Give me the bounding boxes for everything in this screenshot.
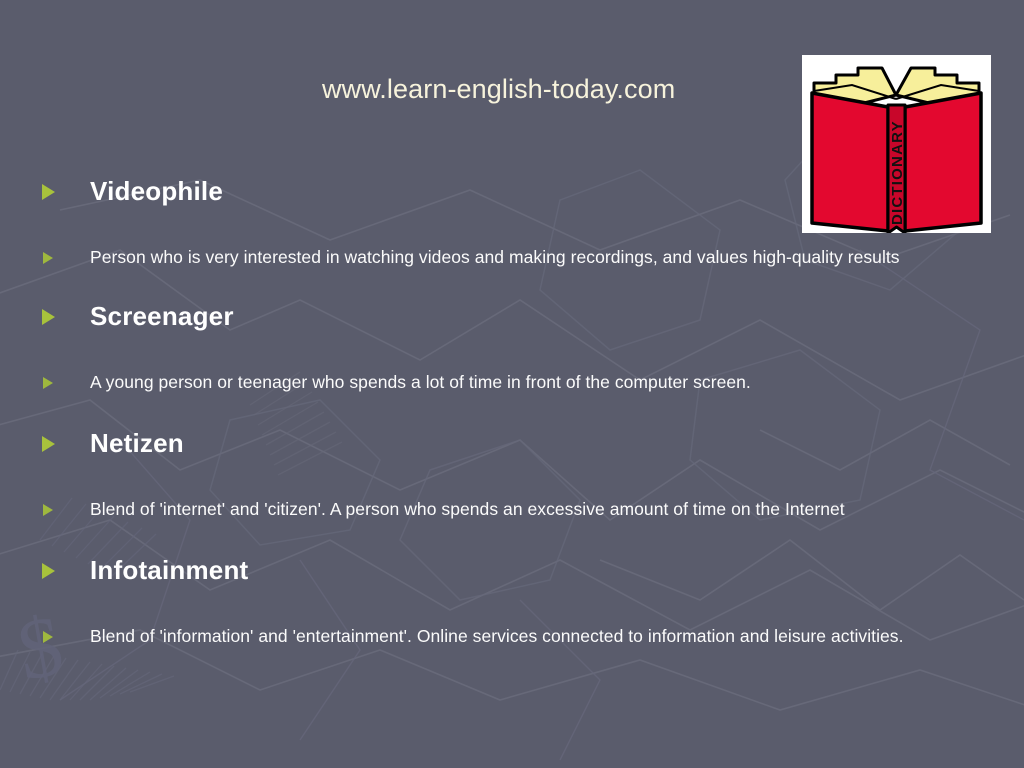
list-item: Netizen Blend of 'internet' and 'citizen…	[0, 428, 1024, 555]
entry-definition-row: Blend of 'information' and 'entertainmen…	[0, 625, 1024, 647]
page-title: www.learn-english-today.com	[322, 72, 675, 106]
entry-term-row: Videophile	[0, 176, 1024, 206]
entry-term: Netizen	[90, 428, 184, 458]
entry-definition-row: A young person or teenager who spends a …	[0, 371, 1024, 393]
entry-term-row: Netizen	[0, 428, 1024, 458]
entry-definition: Blend of 'information' and 'entertainmen…	[90, 625, 904, 647]
entry-term-row: Screenager	[0, 301, 1024, 331]
definition-list: Videophile Person who is very interested…	[0, 176, 1024, 647]
entry-definition-row: Blend of 'internet' and 'citizen'. A per…	[0, 498, 1024, 520]
entry-definition: Blend of 'internet' and 'citizen'. A per…	[90, 498, 845, 520]
entry-term: Infotainment	[90, 555, 248, 585]
entry-definition: A young person or teenager who spends a …	[90, 371, 751, 393]
list-item: Screenager A young person or teenager wh…	[0, 301, 1024, 428]
entry-term: Screenager	[90, 301, 234, 331]
entry-term-row: Infotainment	[0, 555, 1024, 585]
presentation-slide: $ www.learn-english-today.com DICTIONARY	[0, 0, 1024, 768]
list-item: Infotainment Blend of 'information' and …	[0, 555, 1024, 647]
list-item: Videophile Person who is very interested…	[0, 176, 1024, 301]
entry-definition-row: Person who is very interested in watchin…	[0, 246, 1024, 268]
entry-definition: Person who is very interested in watchin…	[90, 246, 900, 268]
entry-term: Videophile	[90, 176, 223, 206]
